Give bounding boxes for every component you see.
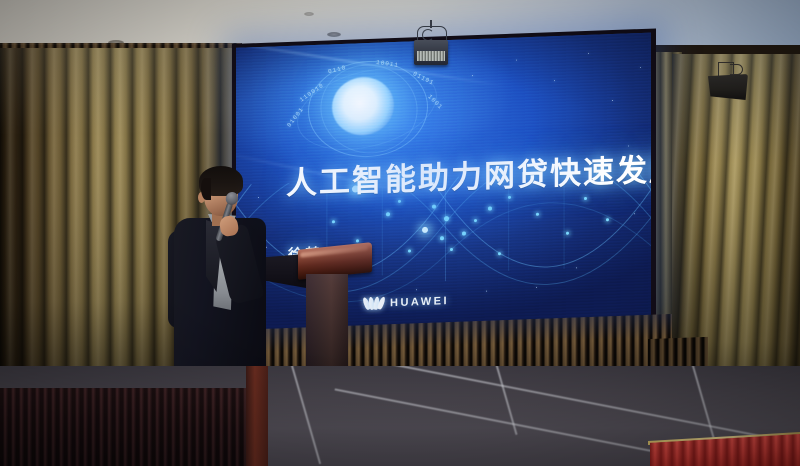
ceiling-downlight: [304, 12, 314, 16]
light-stem: [430, 20, 432, 28]
wall-speaker: [706, 62, 750, 102]
speaker-arm: [730, 64, 743, 75]
ceiling-downlight: [327, 32, 341, 37]
speaker-cabinet: [708, 74, 748, 100]
presenter-hair: [199, 166, 243, 196]
stage-light-fixture: [408, 24, 454, 68]
huawei-logo: HUAWEI: [364, 294, 449, 310]
lectern-base-post: [246, 366, 268, 466]
conference-photo: 01001 110010 0110 10011 01101 1001: [0, 0, 800, 466]
stage-front-left-panel: [0, 388, 246, 466]
light-lens: [417, 51, 445, 61]
huawei-wordmark: HUAWEI: [390, 295, 449, 309]
